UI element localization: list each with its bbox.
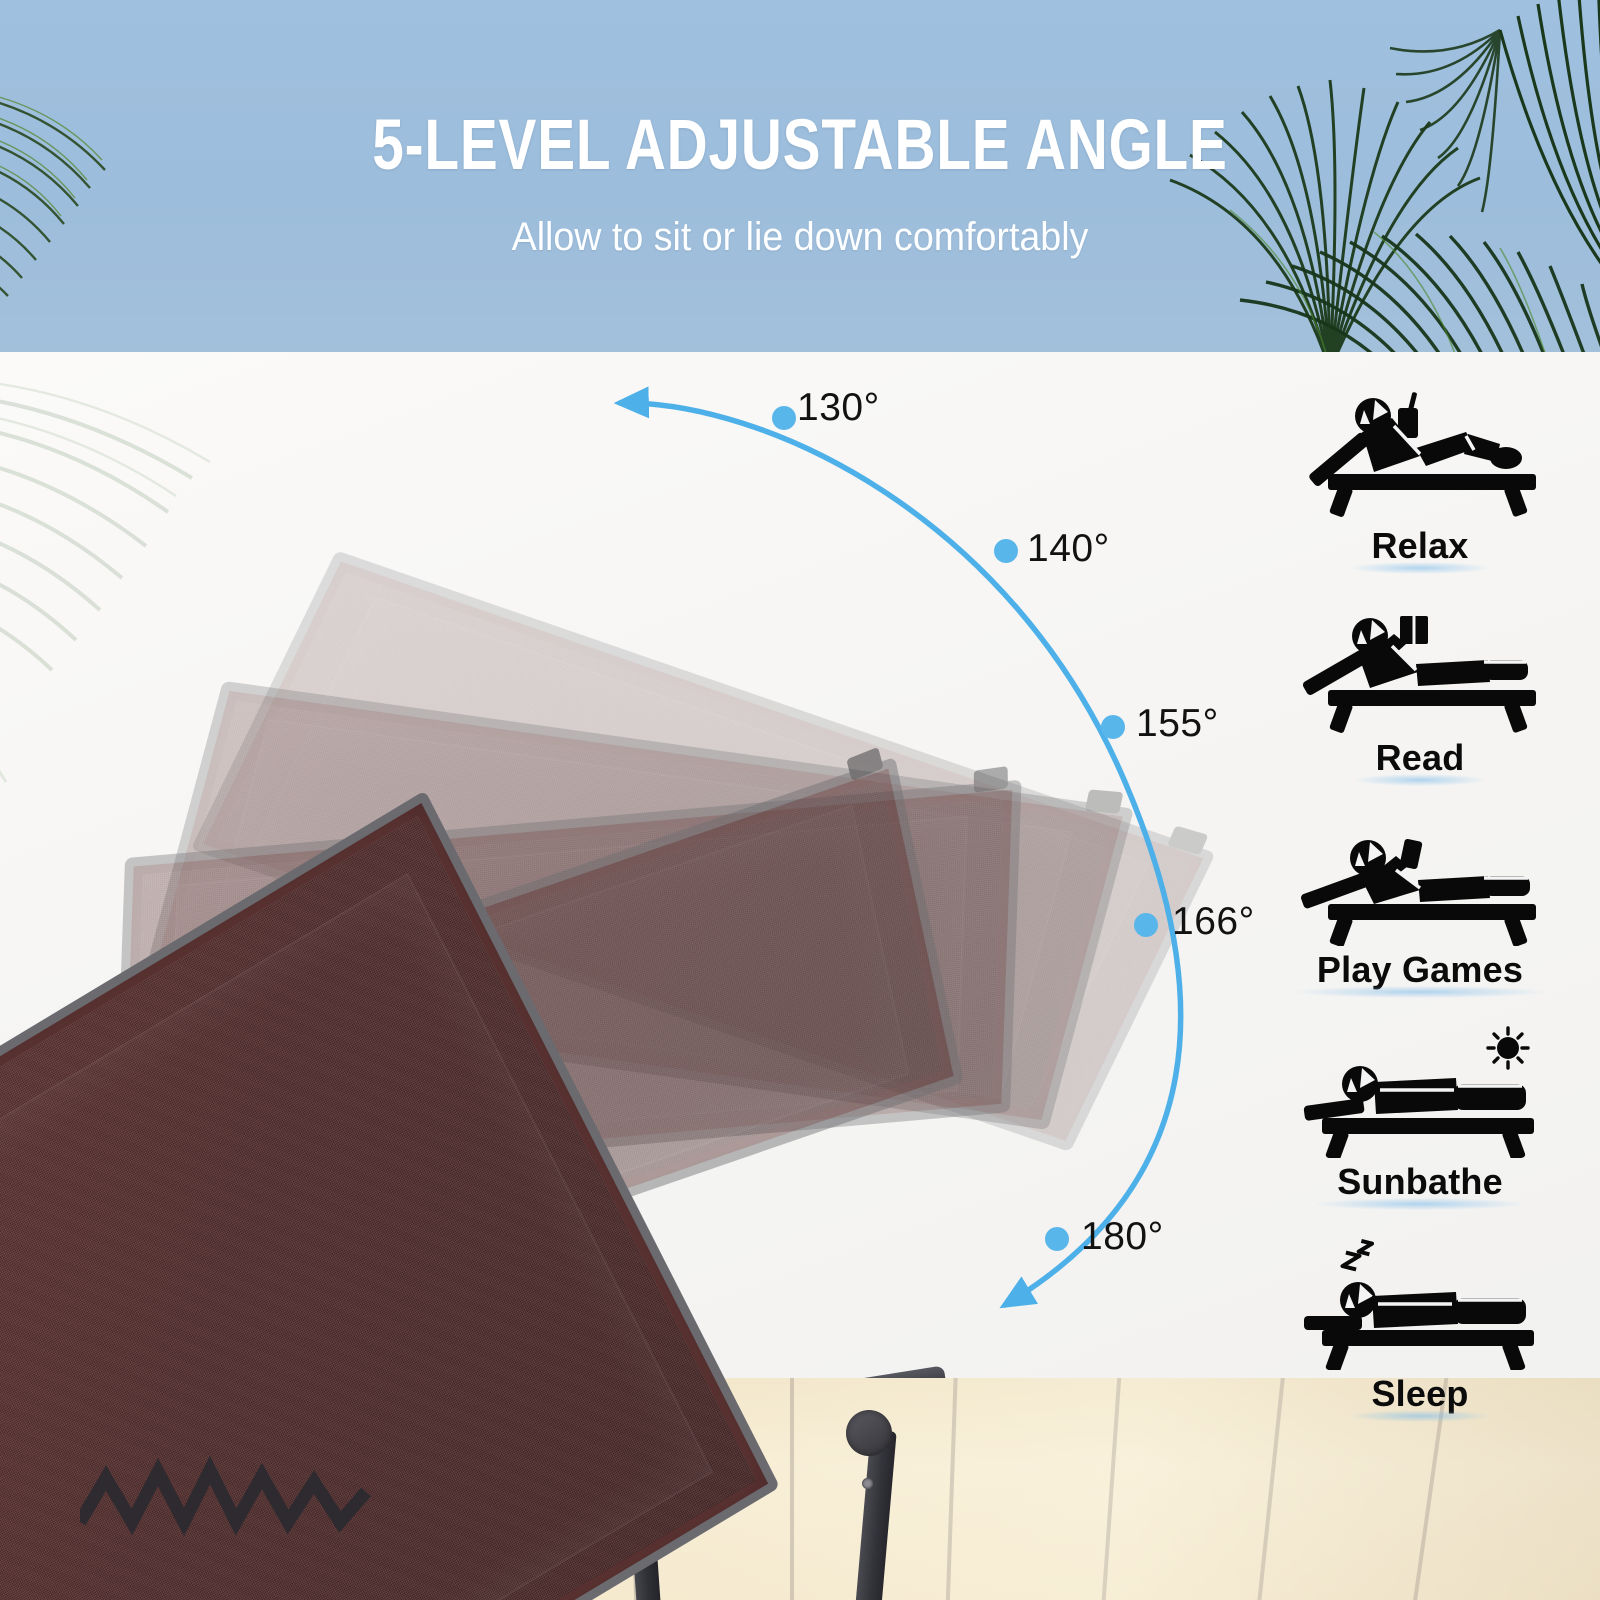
header-banner: 5-LEVEL ADJUSTABLE ANGLE Allow to sit or… <box>0 0 1600 352</box>
usage-item-sleep: Sleep <box>1250 1238 1590 1416</box>
page-subtitle: Allow to sit or lie down comfortably <box>48 212 1552 262</box>
arc-dot-166 <box>1134 913 1158 937</box>
person-play-games-phone-icon <box>1270 814 1570 946</box>
person-read-lounger-book-icon <box>1270 602 1570 734</box>
angle-label-180: 180° <box>1081 1215 1164 1259</box>
usage-label-play-games: Play Games <box>1317 948 1523 992</box>
usage-label-read: Read <box>1376 736 1465 780</box>
arc-dot-180 <box>1045 1227 1069 1251</box>
person-relax-lounger-drink-icon <box>1270 390 1570 522</box>
person-sleep-zzz-icon <box>1270 1238 1570 1370</box>
usage-item-sunbathe: Sunbathe <box>1250 1026 1590 1204</box>
angle-label-130: 130° <box>797 386 880 430</box>
page-title: 5-LEVEL ADJUSTABLE ANGLE <box>160 104 1440 188</box>
angle-label-166: 166° <box>1172 900 1255 944</box>
pivot-hub <box>846 1410 892 1456</box>
usage-label-relax: Relax <box>1371 524 1468 568</box>
person-sunbathe-sun-icon <box>1270 1026 1570 1158</box>
usage-item-relax: Relax <box>1250 390 1590 568</box>
angle-label-155: 155° <box>1136 702 1219 746</box>
usage-item-play-games: Play Games <box>1250 814 1590 992</box>
product-stage: 130° 140° 155° 166° 180° <box>0 352 1600 1600</box>
arc-dot-130 <box>772 406 796 430</box>
zzz-icon <box>1343 1241 1373 1270</box>
ratchet-teeth <box>80 1452 380 1542</box>
angle-label-140: 140° <box>1027 527 1110 571</box>
sun-icon <box>1488 1028 1528 1068</box>
infographic-root: 5-LEVEL ADJUSTABLE ANGLE Allow to sit or… <box>0 0 1600 1600</box>
pivot-screw <box>862 1478 873 1489</box>
usage-item-read: Read <box>1250 602 1590 780</box>
usage-label-sleep: Sleep <box>1371 1372 1468 1416</box>
arc-dot-155 <box>1101 715 1125 739</box>
usage-label-sunbathe: Sunbathe <box>1337 1160 1503 1204</box>
usage-scenarios-panel: Relax <box>1250 370 1590 1590</box>
arc-dot-140 <box>994 539 1018 563</box>
